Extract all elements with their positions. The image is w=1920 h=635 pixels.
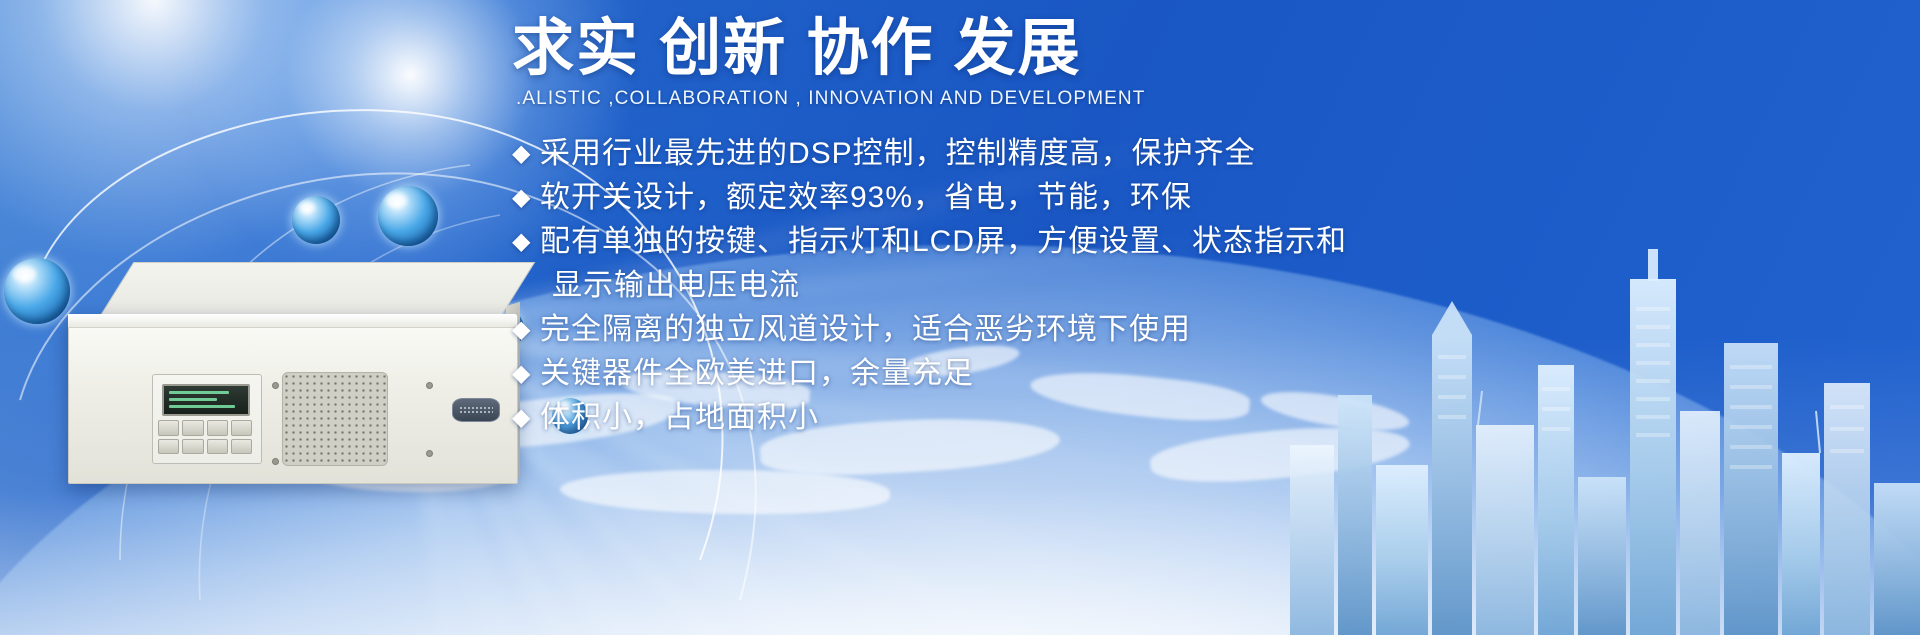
keypad-key xyxy=(158,420,179,436)
list-item: ◆ 完全隔离的独立风道设计，适合恶劣环境下使用 xyxy=(512,308,1692,352)
list-item: ◆ 体积小，占地面积小 xyxy=(512,396,1692,440)
keypad-key xyxy=(182,420,203,436)
screw xyxy=(426,382,433,389)
screw xyxy=(272,458,279,465)
diamond-bullet-icon: ◆ xyxy=(512,308,538,352)
screw xyxy=(272,382,279,389)
keypad-key xyxy=(207,439,228,455)
fan-grille xyxy=(282,372,388,466)
feature-list: ◆ 采用行业最先进的DSP控制，控制精度高，保护齐全 ◆ 软开关设计，额定效率9… xyxy=(512,132,1692,440)
promo-banner: 求实 创新 协作 发展 .ALISTIC ,COLLABORATION , IN… xyxy=(0,0,1920,635)
diamond-bullet-icon: ◆ xyxy=(512,176,538,220)
banner-copy: 求实 创新 协作 发展 .ALISTIC ,COLLABORATION , IN… xyxy=(512,18,1692,440)
list-item-label: 关键器件全欧美进口，余量充足 xyxy=(540,352,974,396)
list-item-continuation: 显示输出电压电流 xyxy=(512,264,1692,308)
diamond-bullet-icon: ◆ xyxy=(512,352,538,396)
keypad-key xyxy=(207,420,228,436)
vga-connector xyxy=(452,398,500,422)
keypad-key xyxy=(158,439,179,455)
keypad-key xyxy=(231,439,252,455)
keypad-key xyxy=(231,420,252,436)
page-title: 求实 创新 协作 发展 xyxy=(512,18,1692,80)
subtitle: .ALISTIC ,COLLABORATION , INNOVATION AND… xyxy=(516,88,1692,110)
list-item: ◆ 采用行业最先进的DSP控制，控制精度高，保护齐全 xyxy=(512,132,1692,176)
keypad-key xyxy=(182,439,203,455)
lcd-display xyxy=(162,384,250,416)
rack-mount-power-supply xyxy=(60,262,530,532)
diamond-bullet-icon: ◆ xyxy=(512,396,538,440)
list-item-label: 配有单独的按键、指示灯和LCD屏，方便设置、状态指示和 xyxy=(540,220,1347,264)
keypad xyxy=(158,420,252,454)
list-item: ◆ 软开关设计，额定效率93%，省电，节能，环保 xyxy=(512,176,1692,220)
screw xyxy=(426,450,433,457)
list-item-label: 采用行业最先进的DSP控制，控制精度高，保护齐全 xyxy=(540,132,1256,176)
list-item-label: 软开关设计，额定效率93%，省电，节能，环保 xyxy=(540,176,1192,220)
device-front-lip xyxy=(68,314,516,328)
diamond-bullet-icon: ◆ xyxy=(512,220,538,264)
mini-globe-icon xyxy=(378,186,438,246)
list-item: ◆ 关键器件全欧美进口，余量充足 xyxy=(512,352,1692,396)
list-item: ◆ 配有单独的按键、指示灯和LCD屏，方便设置、状态指示和 xyxy=(512,220,1692,264)
diamond-bullet-icon: ◆ xyxy=(512,132,538,176)
list-item-label: 完全隔离的独立风道设计，适合恶劣环境下使用 xyxy=(540,308,1191,352)
list-item-label: 体积小，占地面积小 xyxy=(540,396,819,440)
mini-globe-icon xyxy=(292,196,340,244)
